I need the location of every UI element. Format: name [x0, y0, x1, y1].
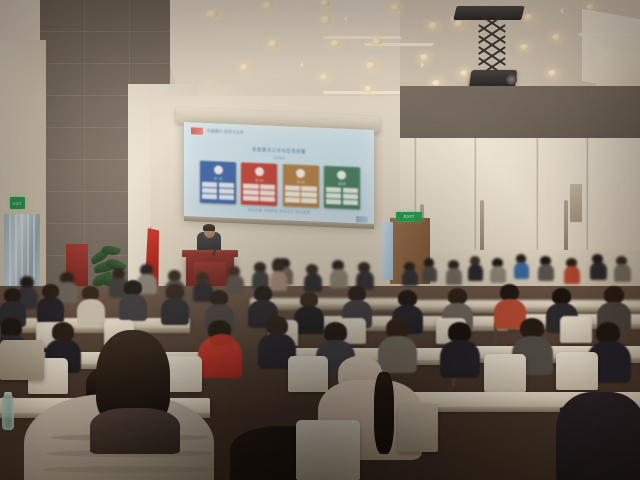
fold [42, 466, 214, 473]
partition-handle[interactable] [564, 200, 568, 252]
projector-lens-icon [506, 74, 517, 85]
downlight [320, 0, 330, 6]
downlight [548, 70, 557, 76]
downlight [320, 16, 331, 24]
chair[interactable] [556, 352, 598, 390]
card-icon [255, 167, 264, 176]
downlight [552, 34, 561, 40]
exit-sign-left-label: EXIT [13, 201, 22, 206]
exit-sign-right-label: EXIT [404, 214, 415, 219]
door-open-gap [382, 222, 393, 280]
chair[interactable] [560, 316, 592, 343]
exit-sign-left: EXIT [10, 197, 25, 209]
slide-card: 第三项 [283, 164, 319, 208]
wall-vent [570, 184, 582, 222]
chair[interactable] [288, 356, 328, 392]
card-icon [337, 170, 346, 179]
downlight [262, 2, 273, 9]
chair[interactable] [398, 404, 438, 452]
card-label: 第四项 [338, 181, 346, 185]
torso [90, 408, 180, 454]
downlight [268, 40, 278, 47]
downlight [390, 4, 400, 11]
slide-header-text: 中国银行 信用卡业务 [207, 129, 244, 136]
card-tile-grid [326, 186, 358, 205]
card-label: 第二项 [255, 178, 263, 182]
downlight [520, 44, 529, 50]
slide-card: 第一项 [200, 161, 236, 205]
downlight [420, 54, 429, 61]
downlight [330, 40, 340, 47]
slide-logo-icon [191, 127, 203, 135]
card-tile-grid [243, 183, 275, 202]
downlight [460, 70, 469, 76]
water-bottle[interactable] [2, 396, 14, 430]
presenter-hair [203, 224, 215, 231]
downlight [320, 74, 329, 80]
exit-sign-right: EXIT [396, 212, 422, 221]
downlight [364, 86, 373, 92]
chair[interactable] [296, 420, 360, 480]
card-label: 第三项 [297, 179, 305, 183]
downlight [366, 62, 376, 69]
scissor-lift-icon [478, 18, 504, 74]
downlight [428, 22, 438, 29]
card-tile-grid [202, 181, 234, 200]
card-icon [296, 169, 305, 178]
downlight [524, 14, 534, 21]
downlight [240, 64, 249, 70]
slide-card: 第四项 [324, 166, 360, 210]
card-tile-grid [285, 185, 317, 204]
downlight [206, 10, 218, 18]
card-icon [214, 165, 223, 174]
slide-card: 第二项 [241, 162, 277, 206]
card-label: 第一项 [214, 176, 222, 180]
projection-screen: 中国银行 信用卡业务 年度重点工作与任务部署 业务总览 第一项 第二项 第三项 [184, 122, 374, 226]
chair[interactable] [484, 354, 526, 392]
chair[interactable] [0, 340, 44, 380]
partition-handle[interactable] [480, 200, 484, 252]
lecture-hall-photo: EXIT EXIT 中国银行 信用卡业务 年度重点工作与任务部署 业务总览 第一… [0, 0, 640, 480]
wall-upper-band [400, 86, 640, 144]
slide-card-group: 第一项 第二项 第三项 第四项 [200, 161, 360, 210]
torso [556, 392, 640, 480]
downlight [372, 38, 382, 45]
ponytail [374, 372, 394, 454]
bottle-cap [4, 392, 12, 398]
downlight [454, 20, 464, 27]
slide-watermark-icon [356, 216, 368, 223]
